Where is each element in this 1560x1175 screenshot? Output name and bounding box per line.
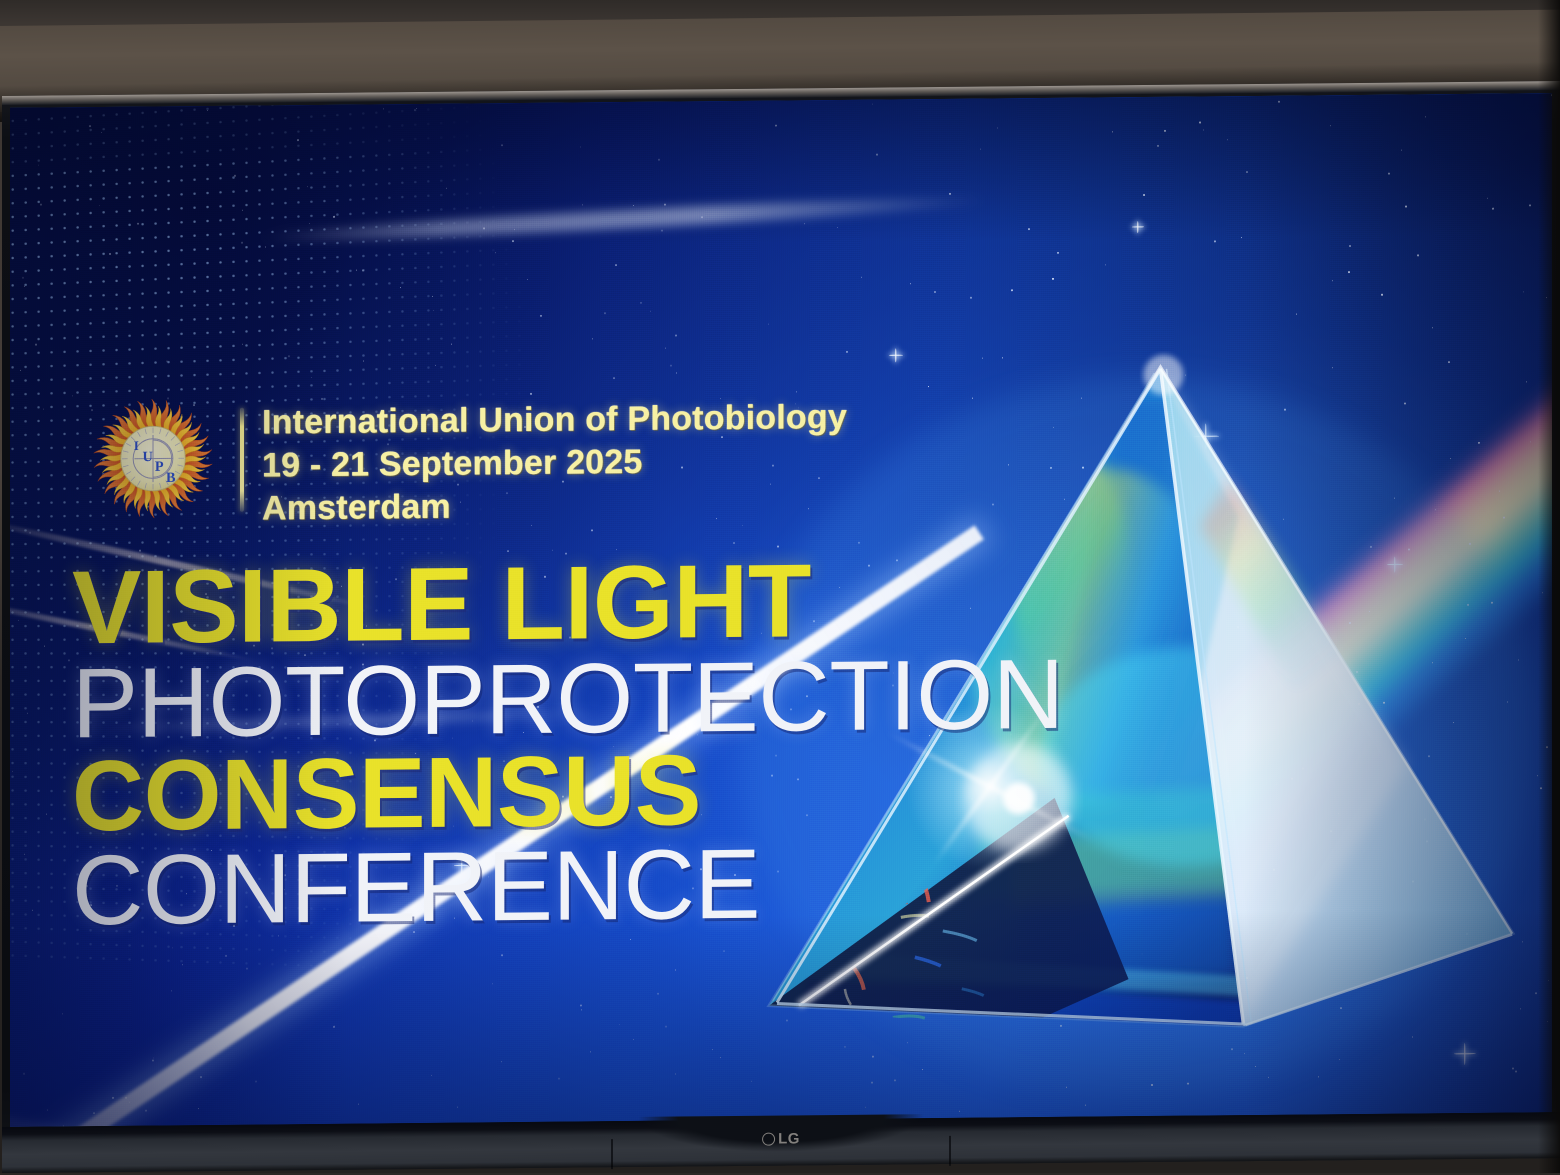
tv-screen: I U P B International Union of Photobiol… <box>10 93 1552 1127</box>
lg-brand-logo: LG <box>762 1130 800 1147</box>
screen-vignette <box>10 93 1552 1127</box>
lg-wordmark: LG <box>778 1130 800 1147</box>
television: I U P B International Union of Photobiol… <box>2 81 1560 1173</box>
lg-circle-mark <box>762 1133 775 1146</box>
